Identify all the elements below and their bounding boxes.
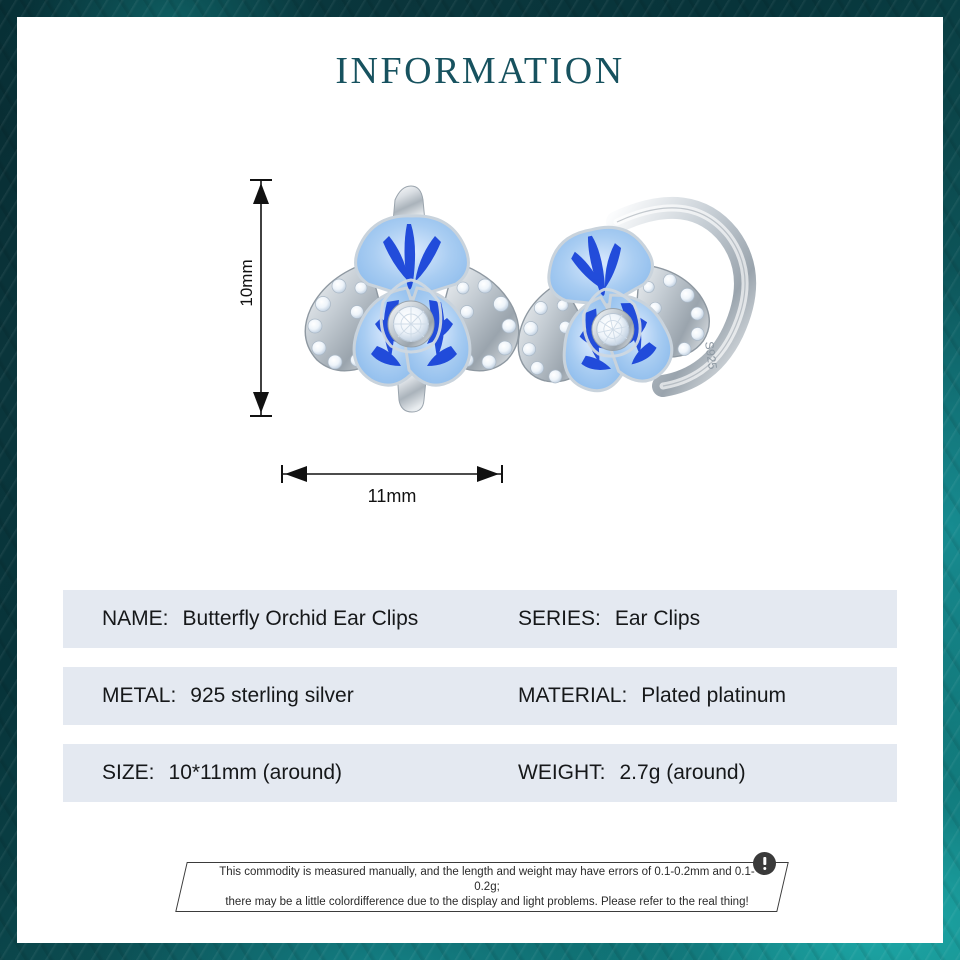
spec-cell-series: SERIES: Ear Clips — [518, 607, 897, 631]
width-dimension-label: 11mm — [277, 486, 507, 507]
page-title: INFORMATION — [17, 49, 943, 93]
spec-value: Butterfly Orchid Ear Clips — [183, 607, 419, 631]
poster-background: INFORMATION 10mm — [0, 0, 960, 960]
product-image: S925 — [277, 170, 777, 432]
spec-key: SIZE: — [102, 761, 155, 785]
spec-cell-size: SIZE: 10*11mm (around) — [63, 761, 518, 785]
spec-cell-name: NAME: Butterfly Orchid Ear Clips — [63, 607, 518, 631]
spec-cell-metal: METAL: 925 sterling silver — [63, 684, 518, 708]
spec-cell-material: MATERIAL: Plated platinum — [518, 684, 897, 708]
spec-key: NAME: — [102, 607, 169, 631]
spec-key: WEIGHT: — [518, 761, 606, 785]
width-dimension: 11mm — [277, 462, 507, 518]
spec-value: Plated platinum — [641, 684, 786, 708]
table-row: METAL: 925 sterling silver MATERIAL: Pla… — [63, 667, 897, 725]
height-dimension-label: 10mm — [237, 246, 257, 320]
table-row: NAME: Butterfly Orchid Ear Clips SERIES:… — [63, 590, 897, 648]
spec-key: MATERIAL: — [518, 684, 627, 708]
information-card: INFORMATION 10mm — [17, 17, 943, 943]
disclaimer-line-1: This commodity is measured manually, and… — [207, 865, 767, 895]
spec-key: SERIES: — [518, 607, 601, 631]
spec-value: 925 sterling silver — [190, 684, 353, 708]
spec-key: METAL: — [102, 684, 176, 708]
product-photo-area: 10mm 11mm — [217, 162, 797, 452]
table-row: SIZE: 10*11mm (around) WEIGHT: 2.7g (aro… — [63, 744, 897, 802]
exclamation-icon — [753, 852, 776, 875]
disclaimer-note: This commodity is measured manually, and… — [167, 850, 807, 916]
disclaimer-line-2: there may be a little colordifference du… — [207, 895, 767, 910]
spec-value: 10*11mm (around) — [169, 761, 343, 785]
spec-value: Ear Clips — [615, 607, 700, 631]
disclaimer-text: This commodity is measured manually, and… — [207, 865, 767, 910]
spec-value: 2.7g (around) — [620, 761, 746, 785]
specification-table: NAME: Butterfly Orchid Ear Clips SERIES:… — [63, 590, 897, 821]
spec-cell-weight: WEIGHT: 2.7g (around) — [518, 761, 897, 785]
